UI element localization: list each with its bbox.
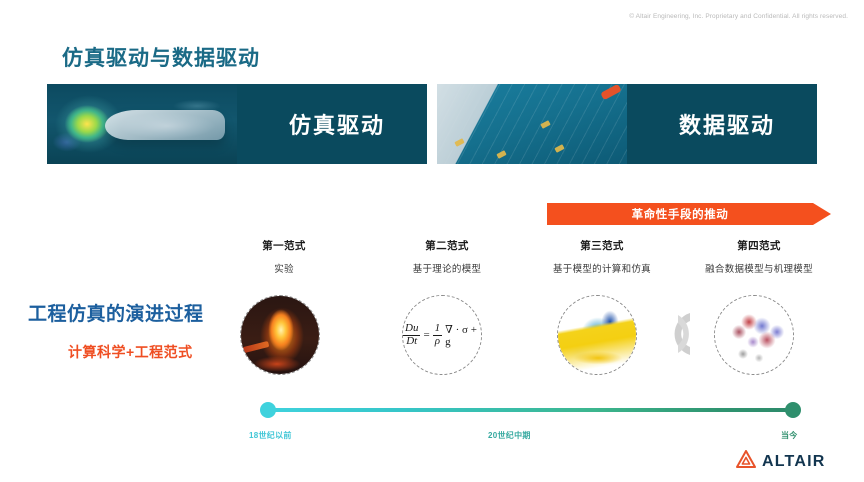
equals-sign: = [423, 329, 429, 341]
divergence-term: ∇ · σ + g [445, 323, 481, 348]
paradigm-column-2: 第二范式 基于理论的模型 [362, 238, 532, 275]
solder-pad-icon [454, 138, 464, 147]
circular-arrows-icon [660, 305, 708, 363]
solder-pad-icon [540, 120, 550, 129]
altair-wordmark: ALTAIR [762, 453, 825, 471]
paradigm-column-4: 第四范式 融合数据模型与机理模型 [674, 238, 844, 275]
revolution-arrow-banner: 革命性手段的推动 [547, 203, 831, 225]
timeline-label-start: 18世纪以前 [249, 430, 292, 441]
paradigm-3-circle [557, 295, 637, 375]
copyright-notice: © Altair Engineering, Inc. Proprietary a… [629, 13, 848, 20]
timeline-start-dot [260, 402, 276, 418]
banner-simulation-driven: 仿真驱动 [47, 84, 427, 164]
banner-data-driven: 数据驱动 [437, 84, 817, 164]
arrow-banner-label: 革命性手段的推动 [547, 203, 813, 225]
paradigm-1-desc: 实验 [199, 261, 369, 275]
arrow-tip-icon [813, 203, 831, 225]
circuit-board-image [437, 84, 627, 164]
banner-simulation-driven-label: 仿真驱动 [247, 84, 427, 164]
altair-logo: ALTAIR [736, 450, 825, 473]
evolution-heading: 工程仿真的演进过程 [28, 299, 204, 326]
flame-photo [241, 296, 319, 374]
paradigm-4-desc: 融合数据模型与机理模型 [674, 261, 844, 275]
paradigm-column-3: 第三范式 基于模型的计算和仿真 [517, 238, 687, 275]
material-derivative-fraction: Du Dt [403, 323, 420, 347]
paradigm-3-title: 第三范式 [517, 238, 687, 253]
paradigm-1-title: 第一范式 [199, 238, 369, 253]
evolution-subheading: 计算科学+工程范式 [68, 342, 193, 362]
paradigm-4-title: 第四范式 [674, 238, 844, 253]
altair-triangle-icon [736, 450, 756, 473]
timeline-label-end: 当今 [781, 430, 798, 441]
paradigm-2-desc: 基于理论的模型 [362, 261, 532, 275]
solder-pad-icon [554, 144, 564, 153]
timeline-end-dot [785, 402, 801, 418]
molecular-model [715, 296, 793, 374]
paradigm-1-circle [240, 295, 320, 375]
chip-icon [600, 84, 621, 100]
paradigm-2-title: 第二范式 [362, 238, 532, 253]
cfd-car-simulation-image [47, 84, 237, 164]
paradigm-column-1: 第一范式 实验 [199, 238, 369, 275]
page-title: 仿真驱动与数据驱动 [62, 42, 260, 72]
timeline-track [268, 408, 793, 412]
paradigm-3-desc: 基于模型的计算和仿真 [517, 261, 687, 275]
timeline-label-middle: 20世纪中期 [488, 430, 531, 441]
cfd-contour-plot [558, 296, 636, 374]
paradigm-2-circle: Du Dt = 1 ρ ∇ · σ + g [402, 295, 482, 375]
banner-data-driven-label: 数据驱动 [637, 84, 817, 164]
navier-stokes-equation: Du Dt = 1 ρ ∇ · σ + g [403, 296, 481, 374]
solder-pad-icon [496, 150, 506, 159]
density-fraction: 1 ρ [433, 323, 443, 347]
paradigm-4-circle [714, 295, 794, 375]
